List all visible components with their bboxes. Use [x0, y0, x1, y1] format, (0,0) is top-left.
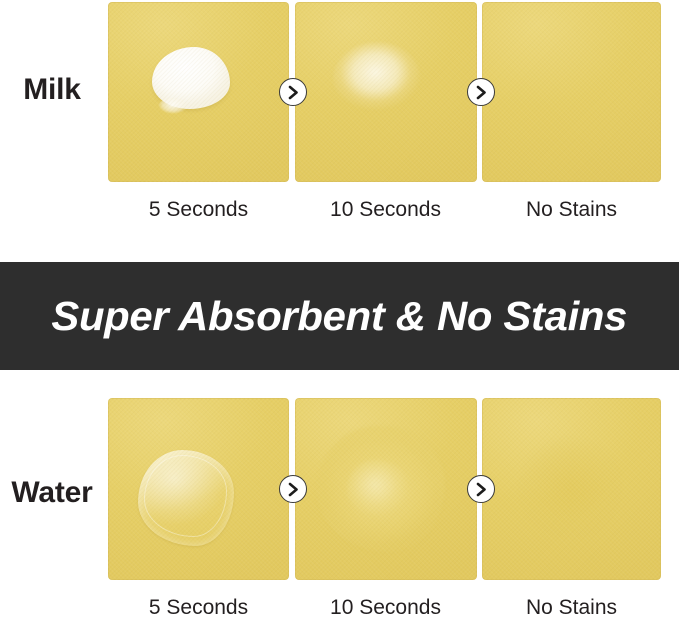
caption-milk-5-seconds: 5 Seconds [108, 198, 289, 222]
cloth-panel-milk-no-stains [482, 2, 661, 182]
demo-row-milk: Milk 5 Seconds 10 Seconds No Stains [0, 0, 679, 250]
row-label-milk: Milk [0, 73, 104, 107]
cloth-panel-water-10-seconds [295, 398, 477, 580]
caption-water-10-seconds: 10 Seconds [295, 596, 477, 620]
demo-row-water: Water 5 Seconds 10 Seconds No Stains [0, 380, 679, 626]
caption-milk-no-stains: No Stains [482, 198, 661, 222]
chevron-right-icon [279, 475, 307, 503]
cloth-panel-milk-5-seconds [108, 2, 289, 182]
caption-water-5-seconds: 5 Seconds [108, 596, 289, 620]
cloth-panel-water-no-stains [482, 398, 661, 580]
headline-text: Super Absorbent & No Stains [52, 293, 628, 340]
milk-stain-fresh-icon [152, 47, 230, 109]
water-stain-fresh-icon [138, 450, 234, 546]
cloth-panel-water-5-seconds [108, 398, 289, 580]
row-label-water: Water [0, 476, 104, 510]
chevron-right-icon [279, 78, 307, 106]
cloth-panel-milk-10-seconds [295, 2, 477, 182]
caption-milk-10-seconds: 10 Seconds [295, 198, 477, 222]
panel-strip-milk [108, 2, 661, 182]
chevron-right-icon [467, 78, 495, 106]
milk-stain-fading-icon [333, 42, 421, 114]
headline-banner: Super Absorbent & No Stains [0, 262, 679, 370]
caption-water-no-stains: No Stains [482, 596, 661, 620]
water-stain-faint-icon [520, 438, 620, 536]
water-stain-spreading-icon [317, 426, 445, 552]
chevron-right-icon [467, 475, 495, 503]
caption-strip-water: 5 Seconds 10 Seconds No Stains [108, 596, 661, 620]
caption-strip-milk: 5 Seconds 10 Seconds No Stains [108, 198, 661, 222]
panel-strip-water [108, 398, 661, 580]
